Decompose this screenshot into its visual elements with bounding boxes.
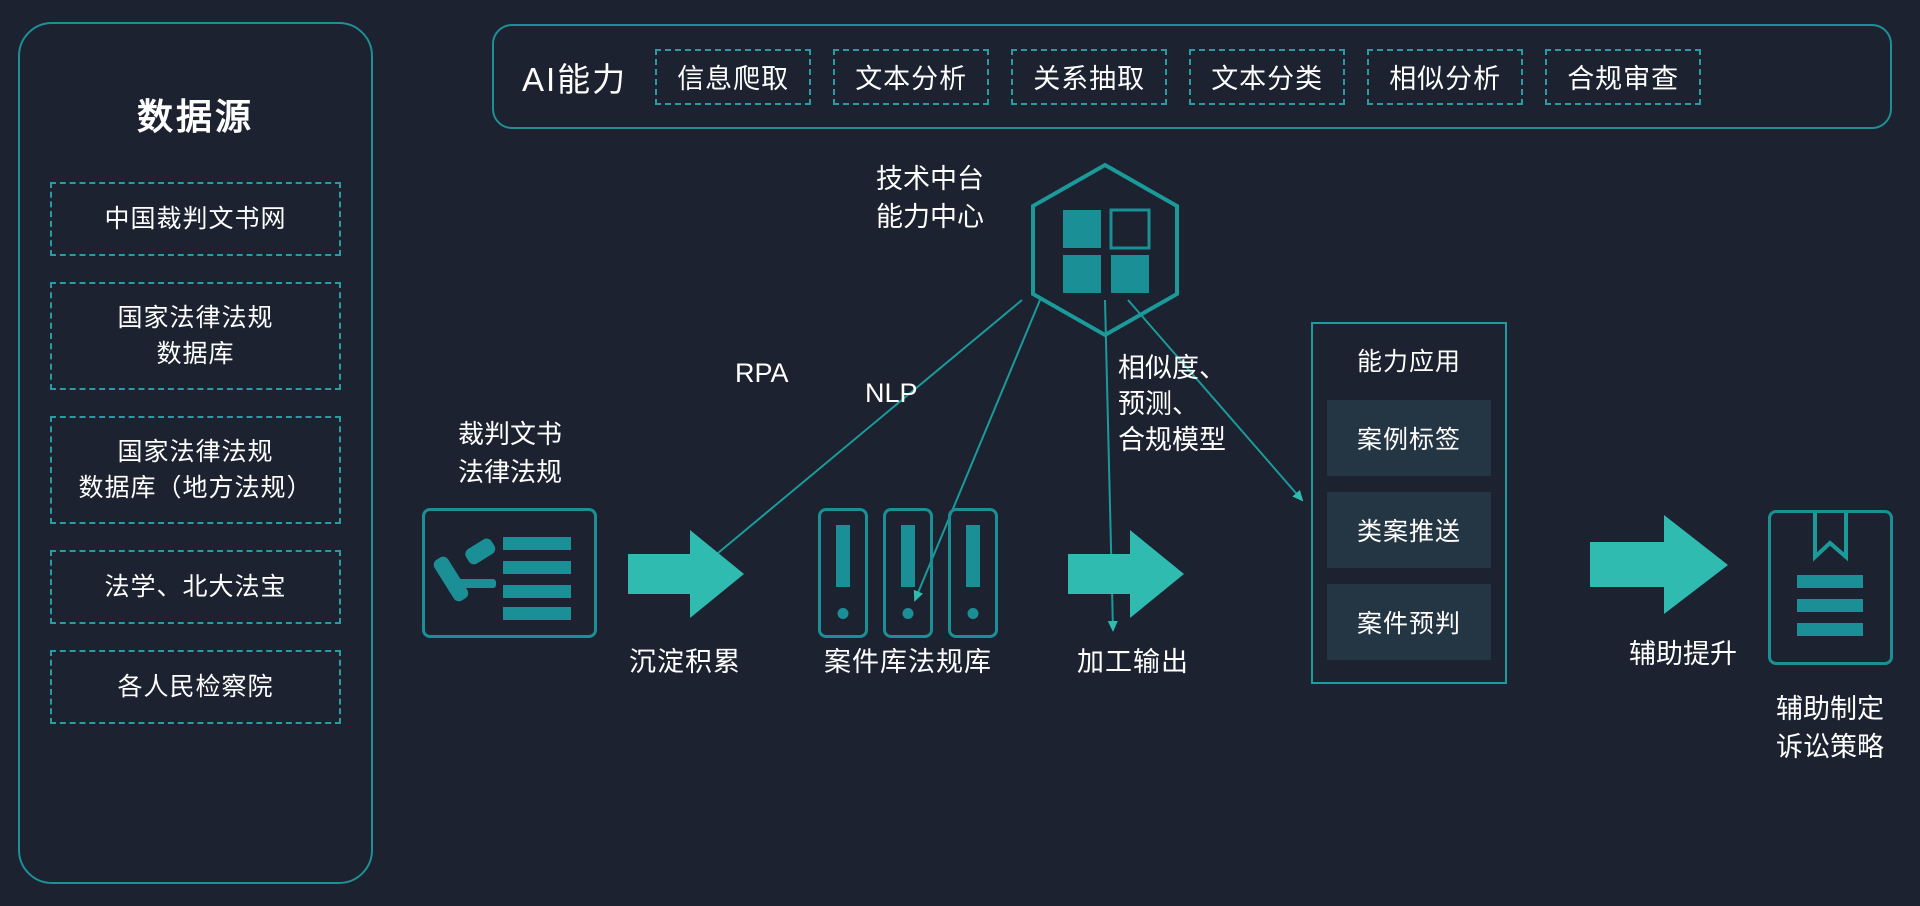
database-bar bbox=[836, 525, 850, 587]
ai-chip-5[interactable]: 合规审查 bbox=[1545, 49, 1701, 105]
ability-card-2[interactable]: 案件预判 bbox=[1327, 584, 1491, 660]
datasource-item-2[interactable]: 国家法律法规 数据库（地方法规） bbox=[50, 416, 341, 524]
datasource-item-1[interactable]: 国家法律法规 数据库 bbox=[50, 282, 341, 390]
datasource-item-4[interactable]: 各人民检察院 bbox=[50, 650, 341, 724]
result-label: 辅助制定 诉讼策略 bbox=[1740, 690, 1920, 766]
ai-capability-bar: AI能力 信息爬取 文本分析 关系抽取 文本分类 相似分析 合规审查 bbox=[492, 24, 1892, 129]
bookmark-document-icon[interactable] bbox=[1768, 510, 1893, 665]
datasource-title: 数据源 bbox=[50, 88, 341, 140]
hub-hexagon[interactable] bbox=[1025, 160, 1185, 340]
hub-label: 技术中台 能力中心 bbox=[840, 160, 1020, 236]
database-bar bbox=[966, 525, 980, 587]
flow-arrow-3 bbox=[1590, 512, 1730, 622]
database-cluster-icon[interactable] bbox=[818, 508, 998, 638]
diagram-canvas: 数据源 中国裁判文书网 国家法律法规 数据库 国家法律法规 数据库（地方法规） … bbox=[0, 0, 1920, 906]
ability-application-panel: 能力应用 案例标签 类案推送 案件预判 bbox=[1311, 322, 1507, 684]
ai-chip-1[interactable]: 文本分析 bbox=[833, 49, 989, 105]
edge-label-nlp: NLP bbox=[865, 375, 918, 411]
ai-chip-4[interactable]: 相似分析 bbox=[1367, 49, 1523, 105]
ability-panel-title: 能力应用 bbox=[1327, 342, 1491, 378]
right-arrow-icon bbox=[1068, 528, 1186, 620]
flow-caption-1: 案件库法规库 bbox=[810, 640, 1006, 679]
flow-caption-0: 沉淀积累 bbox=[600, 640, 770, 679]
flow-arrow-1 bbox=[628, 528, 746, 625]
right-arrow-icon bbox=[628, 528, 746, 620]
right-arrow-icon bbox=[1590, 512, 1730, 617]
database-dot bbox=[968, 608, 979, 619]
ability-card-1[interactable]: 类案推送 bbox=[1327, 492, 1491, 568]
datasource-item-0[interactable]: 中国裁判文书网 bbox=[50, 182, 341, 256]
database-bar bbox=[901, 525, 915, 587]
ai-chip-0[interactable]: 信息爬取 bbox=[655, 49, 811, 105]
hexagon-grid-icon bbox=[1025, 160, 1185, 340]
datasource-panel: 数据源 中国裁判文书网 国家法律法规 数据库 国家法律法规 数据库（地方法规） … bbox=[18, 22, 373, 884]
edge-label-similarity: 相似度、 预测、 合规模型 bbox=[1118, 350, 1226, 458]
database-dot bbox=[838, 608, 849, 619]
flow-caption-2: 加工输出 bbox=[1058, 640, 1208, 679]
ai-chip-2[interactable]: 关系抽取 bbox=[1011, 49, 1167, 105]
assist-caption: 辅助提升 bbox=[1598, 632, 1768, 671]
database-unit-3 bbox=[948, 508, 998, 638]
ai-chip-3[interactable]: 文本分类 bbox=[1189, 49, 1345, 105]
datasource-item-3[interactable]: 法学、北大法宝 bbox=[50, 550, 341, 624]
ability-card-0[interactable]: 案例标签 bbox=[1327, 400, 1491, 476]
flow-arrow-2 bbox=[1068, 528, 1186, 625]
gavel-document-glyph bbox=[425, 511, 594, 635]
database-unit-1 bbox=[818, 508, 868, 638]
ai-capability-title: AI能力 bbox=[522, 53, 627, 101]
database-unit-2 bbox=[883, 508, 933, 638]
edge-label-rpa: RPA bbox=[735, 355, 789, 391]
database-dot bbox=[903, 608, 914, 619]
gavel-document-icon[interactable] bbox=[422, 508, 597, 638]
bookmark-document-glyph bbox=[1771, 513, 1890, 662]
document-stage-label: 裁判文书 法律法规 bbox=[420, 415, 600, 491]
